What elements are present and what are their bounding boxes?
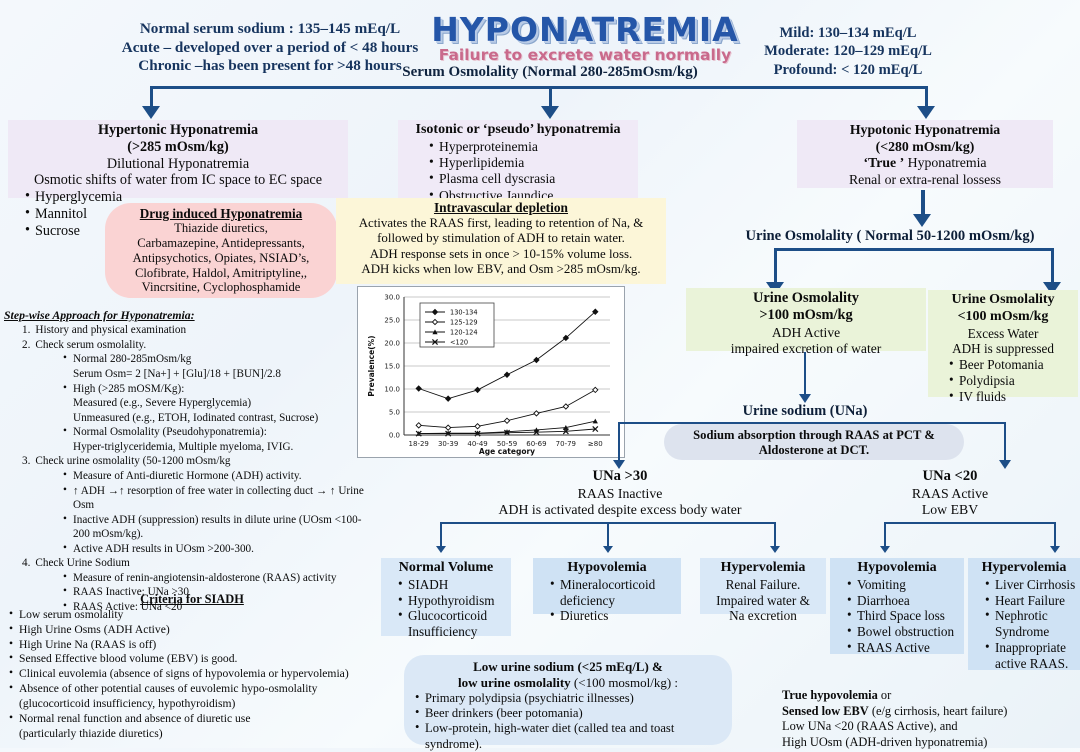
connector-una-low-stem: [1004, 422, 1006, 462]
connector-serum-left-stem: [150, 86, 153, 108]
isotonic-list: Hyperproteinemia Hyperlipidemia Plasma c…: [402, 139, 634, 204]
stepwise-item-number: 1.: [22, 323, 30, 338]
connector-outcome5-stem: [1054, 522, 1056, 548]
arrow-to-urine-sodium: [799, 394, 811, 403]
urine-osm-low-line-2: ADH is suppressed: [932, 341, 1074, 357]
intravascular-line-1: Activates the RAAS first, leading to ret…: [340, 216, 662, 231]
normal-volume-list: SIADH Hypothyroidism Glucocorticoid Insu…: [385, 577, 507, 640]
arrow-to-hypervolemia-a: [770, 546, 780, 553]
urine-sodium-header: Urine sodium (UNa): [660, 403, 950, 420]
list-item: Normal renal function and absence of diu…: [10, 712, 380, 742]
list-item: High (>285 mOSM/Kg):Measured (e.g., Seve…: [64, 382, 364, 426]
drug-induced-line-4: Clofibrate, Haldol, Amitriptyline,,: [111, 266, 331, 281]
siadh-criteria-panel: Criteria for SIADH Low serum osmolalityH…: [4, 592, 380, 741]
list-item: Low serum osmolality: [10, 608, 380, 623]
connector-outcome1-stem: [440, 522, 442, 548]
drug-induced-line-1: Thiazide diuretics,: [111, 221, 331, 236]
low-urine-title-2-bold: low urine osmolality: [458, 675, 571, 690]
serum-sodium-line-2: Acute – developed over a period of < 48 …: [60, 39, 480, 58]
stepwise-title: Step-wise Approach for Hyponatremia:: [4, 308, 364, 323]
una-low-title: UNa <20: [865, 468, 1035, 486]
svg-text:30.0: 30.0: [384, 294, 400, 302]
prevalence-chart: 0.05.010.015.020.025.030.0 18-2930-3940-…: [357, 286, 625, 458]
list-item: Hypothyroidism: [399, 593, 507, 609]
urine-osm-high-value: >100 mOsm/kg: [690, 307, 922, 324]
list-item: Nephrotic Syndrome: [986, 608, 1076, 640]
svg-text:20.0: 20.0: [384, 340, 400, 348]
page-title-main: HYPONATREMIA: [430, 10, 740, 49]
list-item: Beer Potomania: [950, 357, 1074, 373]
raas-note-line-2: Aldosterone at DCT.: [672, 443, 956, 458]
svg-text:Prevalence(%): Prevalence(%): [367, 335, 376, 396]
stepwise-item-text: Check Urine Sodium: [35, 556, 129, 571]
severity-reference: Mild: 130–134 mEq/L Moderate: 120–129 mE…: [728, 24, 968, 79]
low-urine-sodium-panel: Low urine sodium (<25 mEq/L) & low urine…: [404, 655, 732, 745]
true-hypovolemia-panel: True hypovolemia or Sensed low EBV (e/g …: [782, 688, 1080, 750]
stepwise-item: 1.History and physical examination: [22, 323, 364, 338]
connector-outcome3-stem: [774, 522, 776, 548]
stepwise-item-number: 4.: [22, 556, 30, 571]
list-item: Mineralocorticoid deficiency: [551, 577, 677, 609]
serum-osmolality-header: Serum Osmolality (Normal 280-285mOsm/kg): [370, 64, 730, 81]
list-item: High Urine Na (RAAS is off): [10, 638, 380, 653]
stepwise-item: 3.Check urine osmolality (50-1200 mOsm/k…: [22, 454, 364, 469]
connector-serum-horizontal: [150, 86, 928, 89]
svg-text:≥80: ≥80: [588, 440, 603, 448]
list-item: Vomiting: [848, 577, 960, 593]
connector-urineosm-right-stem: [1051, 248, 1054, 284]
list-item: IV fluids: [950, 389, 1074, 405]
severity-moderate: Moderate: 120–129 mEq/L: [728, 42, 968, 60]
drug-induced-line-5: Vincrsitine, Cyclophosphamide: [111, 280, 331, 295]
list-item: Clinical euvolemia (absence of signs of …: [10, 667, 380, 682]
una-low-card: UNa <20 RAAS Active Low EBV: [865, 468, 1035, 519]
list-item: Third Space loss: [848, 608, 960, 624]
connector-unalow-horizontal: [884, 522, 1056, 524]
hypervolemia-b-list: Liver Cirrhosis Heart Failure Nephrotic …: [972, 577, 1076, 672]
svg-text:10.0: 10.0: [384, 386, 400, 394]
svg-text:120-124: 120-124: [450, 329, 478, 337]
list-item: Primary polydipsia (psychiatric illnesse…: [416, 691, 724, 706]
hypotonic-hyponatremia-card: Hypotonic Hyponatremia (<280 mOsm/kg) ‘T…: [797, 120, 1053, 188]
low-urine-title-2: low urine osmolality (<100 mosmol/kg) :: [412, 675, 724, 691]
list-item: Inactive ADH (suppression) results in di…: [64, 513, 364, 542]
hypervolemia-b-title: Hypervolemia: [972, 560, 1076, 577]
una-low-line-1: RAAS Active: [865, 486, 1035, 503]
intravascular-line-3: ADH response sets in once > 10-15% volum…: [340, 247, 662, 262]
connector-serum-right-stem: [925, 86, 928, 108]
hypotonic-range: (<280 mOsm/kg): [801, 139, 1049, 156]
arrow-to-urine-osmolality: [913, 214, 931, 227]
urine-osm-high-line-1: ADH Active: [690, 325, 922, 341]
stepwise-sublist: Measure of Anti-diuretic Hormone (ADH) a…: [4, 469, 364, 556]
list-item: SIADH: [399, 577, 507, 593]
hypervolemia-a-line-3: Na excretion: [704, 608, 822, 624]
list-item: Beer drinkers (beer potomania): [416, 706, 724, 721]
serum-sodium-line-1: Normal serum sodium : 135–145 mEq/L: [60, 20, 480, 39]
hypervolemia-a-title: Hypervolemia: [704, 560, 822, 577]
hypovolemia-a-list: Mineralocorticoid deficiency Diuretics: [537, 577, 677, 625]
urine-osm-low-title: Urine Osmolality: [932, 292, 1074, 309]
arrow-to-hypertonic: [142, 106, 160, 119]
true-hypo-line-1-rest: or: [878, 688, 891, 702]
stepwise-sublist: Normal 280-285mOsm/kgSerum Osm= 2 [Na+] …: [4, 352, 364, 454]
intravascular-line-2: followed by stimulation of ADH to retain…: [340, 231, 662, 246]
outcome-hypovolemia-a-card: Hypovolemia Mineralocorticoid deficiency…: [533, 558, 681, 614]
list-item: Inappropriate active RAAS.: [986, 640, 1076, 672]
true-hypo-line-3: Low UNa <20 (RAAS Active), and: [782, 719, 1080, 735]
drug-induced-hyponatremia-card: Drug induced Hyponatremia Thiazide diure…: [105, 203, 337, 298]
true-hypo-line-2-rest: (e/g cirrhosis, heart failure): [869, 704, 1008, 718]
hypovolemia-b-title: Hypovolemia: [834, 560, 960, 577]
urine-osm-high-title: Urine Osmolality: [690, 290, 922, 307]
stepwise-item-number: 3.: [22, 454, 30, 469]
list-item: Hyperproteinemia: [430, 139, 634, 155]
severity-profound: Profound: < 120 mEq/L: [728, 61, 968, 79]
true-hypo-line-2-bold: Sensed low EBV: [782, 704, 869, 718]
low-urine-title-2-rest: (<100 mosmol/kg) :: [571, 675, 678, 690]
normal-volume-title: Normal Volume: [385, 560, 507, 577]
una-high-line-2: ADH is activated despite excess body wat…: [440, 502, 800, 519]
drug-induced-line-3: Antipsychotics, Opiates, NSIAD’s,: [111, 251, 331, 266]
list-item: High Urine Osms (ADH Active): [10, 623, 380, 638]
hypertonic-hyponatremia-card: Hypertonic Hyponatremia (>285 mOsm/kg) D…: [8, 120, 348, 198]
list-item: Measure of Anti-diuretic Hormone (ADH) a…: [64, 469, 364, 484]
list-item: Measure of renin-angiotensin-aldosterone…: [64, 571, 364, 586]
list-item: Liver Cirrhosis: [986, 577, 1076, 593]
hypotonic-true-rest: Hyponatremia: [904, 155, 986, 170]
urine-osmolality-header: Urine Osmolality ( Normal 50-1200 mOsm/k…: [700, 228, 1080, 245]
hypertonic-desc: Osmotic shifts of water from IC space to…: [12, 172, 344, 189]
connector-serum-mid-stem: [549, 86, 552, 108]
urine-osm-high-line-2: impaired excretion of water: [690, 341, 922, 357]
outcome-hypovolemia-b-card: Hypovolemia Vomiting Diarrhoea Third Spa…: [830, 558, 964, 654]
svg-text:130-134: 130-134: [450, 309, 478, 317]
hypotonic-true-label: ‘True ’: [863, 155, 904, 170]
outcome-hypervolemia-b-card: Hypervolemia Liver Cirrhosis Heart Failu…: [968, 558, 1080, 670]
list-item: Normal Osmolality (Pseudohyponatremia):H…: [64, 425, 364, 454]
raas-note-card: Sodium absorption through RAAS at PCT & …: [664, 424, 964, 460]
page-title-subtitle: Failure to excrete water normally: [430, 46, 740, 64]
hypotonic-true-line: ‘True ’ Hyponatremia: [801, 155, 1049, 172]
hypotonic-desc: Renal or extra-renal lossess: [801, 172, 1049, 189]
arrow-to-normal-volume: [436, 546, 446, 553]
svg-text:125-129: 125-129: [450, 319, 478, 327]
list-item: Polydipsia: [950, 373, 1074, 389]
una-high-line-1: RAAS Inactive: [440, 486, 800, 503]
siadh-title: Criteria for SIADH: [4, 592, 380, 608]
list-item: Normal 280-285mOsm/kgSerum Osm= 2 [Na+] …: [64, 352, 364, 381]
hypertonic-range: (>285 mOsm/kg): [12, 139, 344, 156]
low-urine-list: Primary polydipsia (psychiatric illnesse…: [412, 691, 724, 752]
prevalence-chart-svg: 0.05.010.015.020.025.030.0 18-2930-3940-…: [358, 287, 624, 457]
list-item: Glucocorticoid Insufficiency: [399, 608, 507, 640]
una-low-line-2: Low EBV: [865, 502, 1035, 519]
connector-urineosm-left-stem: [774, 248, 777, 284]
connector-urineosm-to-sodium: [804, 352, 806, 396]
urine-osm-low-list: Beer Potomania Polydipsia IV fluids: [932, 357, 1074, 405]
outcome-normal-volume-card: Normal Volume SIADH Hypothyroidism Gluco…: [381, 558, 511, 636]
drug-induced-title: Drug induced Hyponatremia: [111, 206, 331, 221]
urine-osmolality-high-card: Urine Osmolality >100 mOsm/kg ADH Active…: [686, 288, 926, 351]
hypertonic-subtitle: Dilutional Hyponatremia: [12, 156, 344, 173]
svg-text:25.0: 25.0: [384, 317, 400, 325]
connector-outcome4-stem: [884, 522, 886, 548]
hypovolemia-b-list: Vomiting Diarrhoea Third Space loss Bowe…: [834, 577, 960, 656]
arrow-to-hypovolemia-a: [603, 546, 613, 553]
list-item: Heart Failure: [986, 593, 1076, 609]
list-item: Hyperlipidemia: [430, 155, 634, 171]
svg-text:30-39: 30-39: [438, 440, 458, 448]
severity-mild: Mild: 130–134 mEq/L: [728, 24, 968, 42]
stepwise-item: 4.Check Urine Sodium: [22, 556, 364, 571]
outcome-hypervolemia-a-card: Hypervolemia Renal Failure. Impaired wat…: [700, 558, 826, 614]
arrow-to-hypotonic: [917, 106, 935, 119]
low-urine-title-1: Low urine sodium (<25 mEq/L) &: [412, 659, 724, 675]
connector-una-high-stem: [618, 422, 620, 462]
siadh-list: Low serum osmolalityHigh Urine Osms (ADH…: [4, 608, 380, 741]
drug-induced-line-2: Carbamazepine, Antidepressants,: [111, 236, 331, 251]
una-high-card: UNa >30 RAAS Inactive ADH is activated d…: [440, 468, 800, 519]
svg-text:0.0: 0.0: [389, 432, 400, 440]
svg-text:15.0: 15.0: [384, 363, 400, 371]
stepwise-list: 1.History and physical examination2.Chec…: [4, 323, 364, 614]
list-item: Low-protein, high-water diet (called tea…: [416, 721, 724, 752]
svg-text:18-29: 18-29: [409, 440, 429, 448]
hypervolemia-a-line-1: Renal Failure.: [704, 577, 822, 593]
intravascular-depletion-card: Intravascular depletion Activates the RA…: [336, 198, 666, 284]
list-item: Plasma cell dyscrasia: [430, 171, 634, 187]
connector-outcome2-stem: [607, 522, 609, 548]
true-hypo-line-2: Sensed low EBV (e/g cirrhosis, heart fai…: [782, 704, 1080, 720]
hypertonic-title: Hypertonic Hyponatremia: [12, 122, 344, 139]
list-item: Active ADH results in UOsm >200-300.: [64, 542, 364, 557]
svg-text:<120: <120: [450, 339, 468, 347]
list-item: Diarrhoea: [848, 593, 960, 609]
stepwise-item-text: Check urine osmolality (50-1200 mOsm/kg: [35, 454, 230, 469]
urine-osm-low-line-1: Excess Water: [932, 326, 1074, 342]
raas-note-line-1: Sodium absorption through RAAS at PCT &: [672, 428, 956, 443]
hypovolemia-a-title: Hypovolemia: [537, 560, 677, 577]
intravascular-title: Intravascular depletion: [340, 200, 662, 216]
list-item: RAAS Active: [848, 640, 960, 656]
stepwise-item-number: 2.: [22, 338, 30, 353]
arrow-to-hypervolemia-b: [1050, 546, 1060, 553]
hypervolemia-a-line-2: Impaired water &: [704, 593, 822, 609]
svg-text:Age category: Age category: [479, 447, 535, 456]
list-item: ↑ ADH →↑ resorption of free water in col…: [64, 484, 364, 513]
urine-osmolality-low-card: Urine Osmolality <100 mOsm/kg Excess Wat…: [928, 290, 1078, 397]
isotonic-title: Isotonic or ‘pseudo’ hyponatremia: [402, 122, 634, 139]
stepwise-approach-panel: Step-wise Approach for Hyponatremia: 1.H…: [4, 308, 364, 615]
stepwise-item-text: History and physical examination: [35, 323, 186, 338]
page-title: HYPONATREMIA Failure to excrete water no…: [430, 10, 740, 64]
arrow-to-hypovolemia-b: [880, 546, 890, 553]
intravascular-line-4: ADH kicks when low EBV, and Osm >285 mOs…: [340, 262, 662, 277]
urine-osm-low-value: <100 mOsm/kg: [932, 309, 1074, 326]
svg-text:70-79: 70-79: [556, 440, 576, 448]
list-item: Sensed Effective blood volume (EBV) is g…: [10, 652, 380, 667]
list-item: Diuretics: [551, 608, 677, 624]
true-hypo-line-1-bold: True hypovolemia: [782, 688, 878, 702]
connector-urineosm-horizontal: [774, 248, 1054, 251]
isotonic-hyponatremia-card: Isotonic or ‘pseudo’ hyponatremia Hyperp…: [398, 120, 638, 198]
connector-hypotonic-stem: [921, 190, 925, 216]
list-item: Bowel obstruction: [848, 624, 960, 640]
arrow-to-isotonic: [541, 106, 559, 119]
list-item: Absence of other potential causes of euv…: [10, 682, 380, 712]
svg-text:5.0: 5.0: [389, 409, 400, 417]
true-hypo-line-1: True hypovolemia or: [782, 688, 1080, 704]
stepwise-item: 2.Check serum osmolality.: [22, 338, 364, 353]
hypotonic-title: Hypotonic Hyponatremia: [801, 122, 1049, 139]
una-high-title: UNa >30: [440, 468, 800, 486]
stepwise-item-text: Check serum osmolality.: [35, 338, 146, 353]
